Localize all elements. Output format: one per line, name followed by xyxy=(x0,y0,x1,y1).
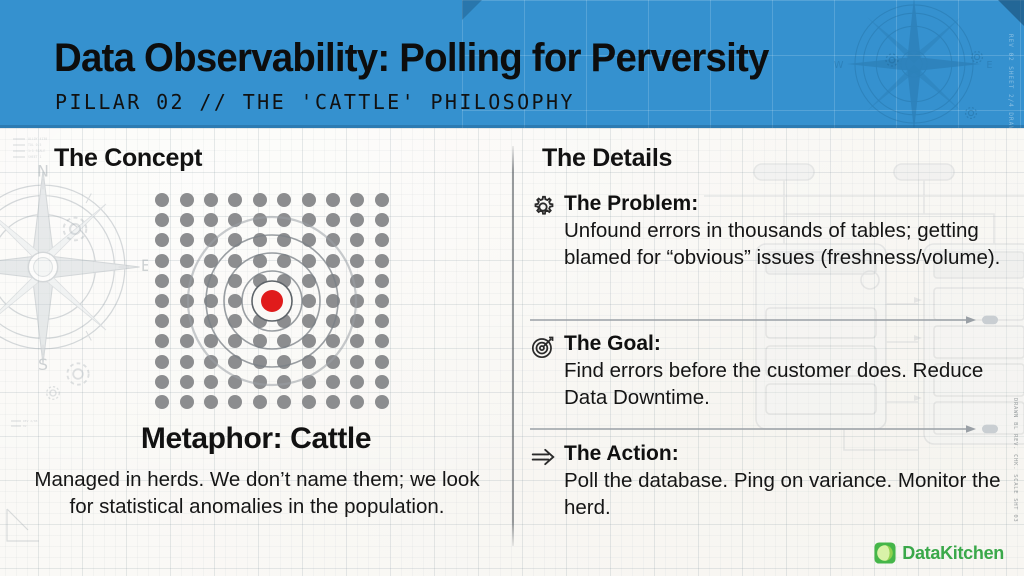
grid-dot xyxy=(155,233,169,247)
logo-text: DataKitchen xyxy=(902,543,1004,564)
gear-icon xyxy=(882,50,902,70)
grid-dot xyxy=(350,395,364,409)
grid-dot xyxy=(180,254,194,268)
grid-dot xyxy=(302,193,316,207)
grid-dot xyxy=(155,375,169,389)
detail-block-body: Unfound errors in thousands of tables; g… xyxy=(564,218,1004,271)
grid-dot xyxy=(253,334,267,348)
grid-dot xyxy=(326,274,340,288)
grid-dot xyxy=(155,314,169,328)
gear-icon xyxy=(968,48,986,66)
grid-dot xyxy=(326,355,340,369)
grid-dot xyxy=(350,314,364,328)
grid-dot xyxy=(253,213,267,227)
grid-dot xyxy=(277,334,291,348)
page-title: Data Observability: Polling for Perversi… xyxy=(54,36,769,81)
grid-dot xyxy=(228,375,242,389)
detail-block-title: The Action: xyxy=(564,442,679,466)
grid-dot xyxy=(302,233,316,247)
grid-dot xyxy=(350,193,364,207)
grid-dot xyxy=(277,355,291,369)
grid-dot xyxy=(180,213,194,227)
datakitchen-logo: DataKitchen xyxy=(874,542,1004,564)
grid-dot xyxy=(350,334,364,348)
grid-dot xyxy=(204,294,218,308)
grid-dot xyxy=(180,193,194,207)
grid-dot xyxy=(277,213,291,227)
section-divider-rule xyxy=(530,313,1000,327)
grid-dot xyxy=(326,375,340,389)
grid-dot xyxy=(302,355,316,369)
grid-dot xyxy=(180,314,194,328)
detail-block-body: Poll the database. Ping on variance. Mon… xyxy=(564,468,1004,521)
grid-dot xyxy=(253,233,267,247)
details-panel: DRAWN BL REV. CHK. SCALE SHT 03 The Deta… xyxy=(512,128,1024,576)
details-heading: The Details xyxy=(542,144,672,173)
grid-dot xyxy=(155,334,169,348)
anomaly-dot xyxy=(261,290,283,312)
header-corner-notch xyxy=(998,0,1024,26)
svg-text:W: W xyxy=(834,60,844,71)
grid-dot xyxy=(228,334,242,348)
page-subtitle: PILLAR 02 // THE 'CATTLE' PHILOSOPHY xyxy=(55,90,575,114)
header-corner-notch-left xyxy=(462,0,482,20)
grid-dot xyxy=(180,334,194,348)
slide-root: N E W REV 02 SHEET 2/4 DRAWN 04 xyxy=(0,0,1024,576)
grid-dot xyxy=(302,213,316,227)
grid-dot xyxy=(228,294,242,308)
grid-dot xyxy=(180,395,194,409)
grid-dot xyxy=(155,294,169,308)
grid-dot xyxy=(302,294,316,308)
grid-dot xyxy=(375,274,389,288)
grid-dot xyxy=(253,355,267,369)
gear-icon xyxy=(62,358,94,390)
grid-dot xyxy=(375,213,389,227)
target-arrow-icon xyxy=(530,334,556,360)
details-side-micro-text: DRAWN BL REV. CHK. SCALE SHT 03 xyxy=(1012,398,1018,522)
grid-dot xyxy=(326,395,340,409)
grid-dot xyxy=(204,334,218,348)
grid-dot xyxy=(326,314,340,328)
grid-dot xyxy=(204,193,218,207)
grid-dot xyxy=(350,233,364,247)
concept-heading: The Concept xyxy=(54,144,202,173)
grid-dot xyxy=(277,233,291,247)
grid-dot xyxy=(180,274,194,288)
grid-dot xyxy=(180,294,194,308)
grid-dot xyxy=(277,395,291,409)
grid-dot xyxy=(326,193,340,207)
grid-dot xyxy=(204,233,218,247)
grid-dot xyxy=(375,314,389,328)
grid-dot xyxy=(302,274,316,288)
grid-dot xyxy=(253,254,267,268)
grid-dot xyxy=(326,294,340,308)
detail-block-title: The Problem: xyxy=(564,192,698,216)
grid-dot xyxy=(155,193,169,207)
grid-dot xyxy=(326,233,340,247)
grid-dot xyxy=(326,254,340,268)
svg-text:S: S xyxy=(38,355,48,372)
detail-block-title: The Goal: xyxy=(564,332,661,356)
grid-dot xyxy=(228,254,242,268)
svg-text:E: E xyxy=(141,256,148,275)
svg-text:ALLOY 4130: ALLOY 4130 xyxy=(28,137,47,141)
grid-dot xyxy=(375,233,389,247)
grid-dot xyxy=(228,193,242,207)
gear-icon xyxy=(962,104,980,122)
gear-icon xyxy=(58,212,92,246)
metaphor-body: Managed in herds. We don’t name them; we… xyxy=(26,466,488,521)
grid-dot xyxy=(302,395,316,409)
svg-text:SHEET 1: SHEET 1 xyxy=(28,155,42,159)
section-divider-rule xyxy=(530,422,1000,436)
svg-text:TOL 0.5: TOL 0.5 xyxy=(28,143,42,147)
gear-icon xyxy=(44,384,62,402)
grid-dot xyxy=(253,395,267,409)
grid-dot xyxy=(277,375,291,389)
grid-dot xyxy=(302,375,316,389)
grid-dot xyxy=(180,355,194,369)
grid-dot xyxy=(350,254,364,268)
svg-text:N: N xyxy=(37,162,49,181)
grid-dot xyxy=(253,375,267,389)
grid-dot xyxy=(375,254,389,268)
legend-watermark: ALLOY 4130TOL 0.5 1:1 SCALESHEET 1 xyxy=(12,136,60,162)
grid-dot xyxy=(350,355,364,369)
grid-dot xyxy=(155,213,169,227)
grid-dot xyxy=(228,314,242,328)
grid-dot xyxy=(155,355,169,369)
gear-icon xyxy=(530,194,556,220)
grid-dot xyxy=(204,395,218,409)
grid-dot xyxy=(302,254,316,268)
grid-dot xyxy=(350,294,364,308)
concept-panel: N E S xyxy=(0,128,512,576)
grid-dot xyxy=(204,375,218,389)
grid-dot xyxy=(204,314,218,328)
grid-dot xyxy=(375,355,389,369)
grid-dot xyxy=(350,375,364,389)
double-arrow-right-icon xyxy=(530,444,556,470)
grid-dot xyxy=(326,213,340,227)
dot-matrix-radar-diagram xyxy=(150,190,394,412)
svg-text:E: E xyxy=(986,60,992,71)
grid-dot xyxy=(155,254,169,268)
detail-block-body: Find errors before the customer does. Re… xyxy=(564,358,1004,411)
grid-dot xyxy=(228,213,242,227)
grid-dot xyxy=(204,254,218,268)
grid-dot xyxy=(228,233,242,247)
grid-dot xyxy=(277,254,291,268)
grid-dot xyxy=(253,314,267,328)
grid-dot xyxy=(155,274,169,288)
grid-dot xyxy=(204,213,218,227)
header-side-micro-text: REV 02 SHEET 2/4 DRAWN 04 xyxy=(1007,34,1014,128)
grid-dot xyxy=(350,274,364,288)
grid-dot xyxy=(277,274,291,288)
grid-dot xyxy=(204,355,218,369)
compass-rose-icon: N E S xyxy=(0,162,148,372)
grid-dot xyxy=(350,213,364,227)
grid-dot xyxy=(375,395,389,409)
grid-dot xyxy=(228,395,242,409)
grid-dot xyxy=(155,395,169,409)
datakitchen-leaf-icon xyxy=(874,542,896,564)
grid-dot xyxy=(180,375,194,389)
grid-dot xyxy=(375,294,389,308)
grid-dot xyxy=(253,193,267,207)
grid-dot xyxy=(302,314,316,328)
grid-dot xyxy=(375,334,389,348)
grid-dot xyxy=(326,334,340,348)
grid-dot xyxy=(228,274,242,288)
grid-dot xyxy=(204,274,218,288)
grid-dot xyxy=(302,334,316,348)
grid-dot xyxy=(375,375,389,389)
grid-dot xyxy=(277,193,291,207)
slide-header: N E W REV 02 SHEET 2/4 DRAWN 04 xyxy=(0,0,1024,128)
grid-dot xyxy=(228,355,242,369)
grid-dot xyxy=(180,233,194,247)
grid-dot xyxy=(375,193,389,207)
svg-text:1:1 SCALE: 1:1 SCALE xyxy=(28,149,45,153)
grid-dot xyxy=(253,274,267,288)
metaphor-title: Metaphor: Cattle xyxy=(0,422,512,456)
grid-dot xyxy=(277,314,291,328)
